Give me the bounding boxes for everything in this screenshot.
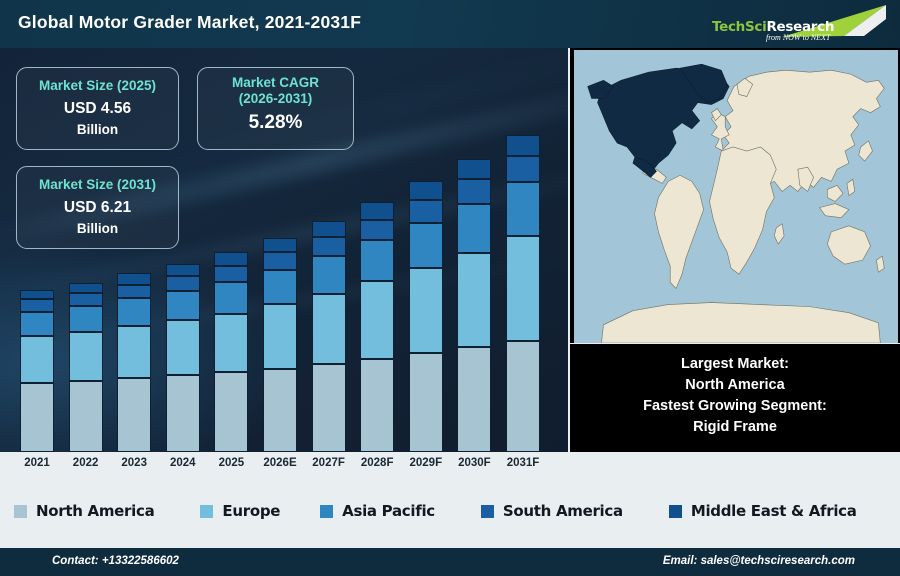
bar-2030F	[457, 159, 491, 452]
logo-tagline: from NOW to NEXT	[766, 33, 830, 42]
map-landmass-antarctica	[601, 303, 880, 343]
bar-segment-south-america	[166, 276, 200, 291]
bar-segment-europe	[312, 294, 346, 364]
world-map	[574, 50, 898, 343]
legend-item-north-america[interactable]: North America	[14, 502, 154, 520]
stat-card-market-cagr: Market CAGR (2026-2031) 5.28%	[197, 67, 354, 150]
bar-segment-europe	[214, 314, 248, 373]
map-landmass-japan	[859, 141, 873, 161]
bar-segment-north-america	[214, 372, 248, 452]
bar-segment-middle-east-africa	[506, 135, 540, 156]
legend-label-asia-pacific: Asia Pacific	[342, 502, 435, 520]
bar-2025	[214, 252, 248, 452]
bar-2022	[69, 283, 103, 452]
bar-segment-asia-pacific	[360, 240, 394, 281]
bar-segment-asia-pacific	[506, 182, 540, 236]
bar-segment-europe	[166, 320, 200, 375]
legend-swatch-europe	[200, 505, 213, 518]
legend-swatch-asia-pacific	[320, 505, 333, 518]
bar-segment-europe	[263, 304, 297, 368]
bar-segment-south-america	[360, 220, 394, 240]
bar-segment-north-america	[263, 369, 297, 452]
legend-label-europe: Europe	[222, 502, 280, 520]
map-landmass-africa	[709, 147, 776, 274]
bar-2029F	[409, 181, 443, 452]
bar-segment-south-america	[20, 299, 54, 311]
legend-item-middle-east-africa[interactable]: Middle East & Africa	[669, 502, 857, 520]
x-axis-label-2031F: 2031F	[493, 457, 553, 469]
bar-segment-asia-pacific	[69, 306, 103, 332]
map-landmass-southeast-asia	[827, 185, 843, 201]
fastest-segment-label: Fastest Growing Segment:	[643, 396, 827, 417]
bar-2021	[20, 290, 54, 452]
legend-swatch-north-america	[14, 505, 27, 518]
bar-segment-south-america	[409, 200, 443, 222]
bar-segment-middle-east-africa	[360, 202, 394, 219]
bar-segment-north-america	[20, 383, 54, 452]
map-landmass-australia	[827, 226, 870, 264]
legend-item-europe[interactable]: Europe	[200, 502, 280, 520]
map-landmass-new-zealand	[876, 256, 884, 272]
chart-panel: Market Size (2025) USD 4.56 Billion Mark…	[0, 48, 568, 452]
footer-email: Email: sales@techsciresearch.com	[663, 555, 855, 567]
bar-segment-south-america	[312, 237, 346, 256]
bar-segment-south-america	[263, 252, 297, 269]
bar-segment-europe	[20, 336, 54, 383]
legend-swatch-middle-east-africa	[669, 505, 682, 518]
stat-value: 5.28%	[198, 111, 353, 134]
stat-label-2: (2026-2031)	[198, 91, 353, 107]
largest-market-value: North America	[685, 375, 784, 396]
map-landmass-indonesia	[819, 204, 848, 218]
bar-2026E	[263, 238, 297, 452]
footer-contact: Contact: +13322586602	[52, 555, 179, 567]
techsci-research-logo: TechSciResearch from NOW to NEXT	[706, 2, 892, 46]
legend-item-asia-pacific[interactable]: Asia Pacific	[320, 502, 435, 520]
bar-segment-middle-east-africa	[69, 283, 103, 293]
fastest-segment-value: Rigid Frame	[693, 417, 777, 438]
infographic-page: Global Motor Grader Market, 2021-2031F T…	[0, 0, 900, 576]
bar-segment-asia-pacific	[20, 312, 54, 337]
legend-swatch-south-america	[481, 505, 494, 518]
bar-segment-asia-pacific	[166, 291, 200, 321]
map-landmass-philippines	[847, 179, 855, 195]
bar-segment-middle-east-africa	[457, 159, 491, 179]
footer-bar: Contact: +13322586602 Email: sales@techs…	[0, 548, 900, 576]
header-bar: Global Motor Grader Market, 2021-2031F T…	[0, 0, 900, 48]
bar-segment-north-america	[409, 353, 443, 452]
largest-market-label: Largest Market:	[681, 354, 789, 375]
bar-segment-europe	[360, 281, 394, 359]
bar-2028F	[360, 202, 394, 452]
stat-card-market-size-2025: Market Size (2025) USD 4.56 Billion	[16, 67, 179, 150]
bar-segment-asia-pacific	[214, 282, 248, 314]
stat-value: USD 6.21	[17, 196, 178, 219]
bar-segment-south-america	[506, 156, 540, 183]
bar-segment-south-america	[117, 285, 151, 299]
bar-segment-asia-pacific	[117, 298, 151, 326]
stat-card-market-size-2031: Market Size (2031) USD 6.21 Billion	[16, 166, 179, 249]
stat-label: Market CAGR	[198, 75, 353, 91]
bar-segment-europe	[69, 332, 103, 381]
bar-segment-europe	[506, 236, 540, 341]
bar-segment-middle-east-africa	[214, 252, 248, 265]
bar-segment-europe	[457, 253, 491, 347]
chart-legend: North AmericaEuropeAsia PacificSouth Ame…	[0, 480, 900, 542]
bar-segment-middle-east-africa	[166, 264, 200, 276]
legend-label-north-america: North America	[36, 502, 154, 520]
stat-label: Market Size (2031)	[17, 176, 178, 193]
world-map-svg	[574, 50, 898, 343]
bar-segment-north-america	[166, 375, 200, 452]
bar-segment-north-america	[312, 364, 346, 452]
legend-item-south-america[interactable]: South America	[481, 502, 623, 520]
bar-segment-middle-east-africa	[117, 273, 151, 284]
map-landmass-south-america	[655, 175, 704, 288]
bar-segment-north-america	[117, 378, 151, 452]
bar-2027F	[312, 221, 346, 452]
bar-segment-middle-east-africa	[312, 221, 346, 237]
bar-segment-north-america	[69, 381, 103, 452]
bar-segment-asia-pacific	[457, 204, 491, 253]
legend-label-south-america: South America	[503, 502, 623, 520]
bar-segment-europe	[117, 326, 151, 378]
stat-unit: Billion	[17, 120, 178, 139]
bar-segment-north-america	[457, 347, 491, 452]
bar-segment-europe	[409, 268, 443, 354]
bar-segment-middle-east-africa	[409, 181, 443, 200]
bar-segment-asia-pacific	[312, 256, 346, 294]
stat-label: Market Size (2025)	[17, 77, 178, 94]
key-findings-box: Largest Market: North America Fastest Gr…	[570, 344, 900, 452]
page-title: Global Motor Grader Market, 2021-2031F	[18, 12, 361, 33]
bar-segment-north-america	[506, 341, 540, 452]
stat-value: USD 4.56	[17, 97, 178, 120]
bar-segment-north-america	[360, 359, 394, 452]
bar-2023	[117, 273, 151, 452]
chart-x-axis: 202120222023202420252026E2027F2028F2029F…	[0, 452, 568, 480]
world-map-panel	[570, 48, 900, 343]
bar-2031F	[506, 135, 540, 452]
bar-2024	[166, 264, 200, 452]
bar-segment-middle-east-africa	[263, 238, 297, 252]
stat-unit: Billion	[17, 219, 178, 238]
logo-techsci: TechSci	[712, 19, 766, 35]
map-landmass-madagascar	[774, 224, 784, 244]
bar-segment-asia-pacific	[263, 270, 297, 305]
bar-segment-middle-east-africa	[20, 290, 54, 300]
bar-segment-south-america	[214, 266, 248, 282]
legend-label-middle-east-africa: Middle East & Africa	[691, 502, 857, 520]
bar-segment-south-america	[69, 293, 103, 306]
bar-segment-south-america	[457, 179, 491, 204]
bar-segment-asia-pacific	[409, 223, 443, 268]
